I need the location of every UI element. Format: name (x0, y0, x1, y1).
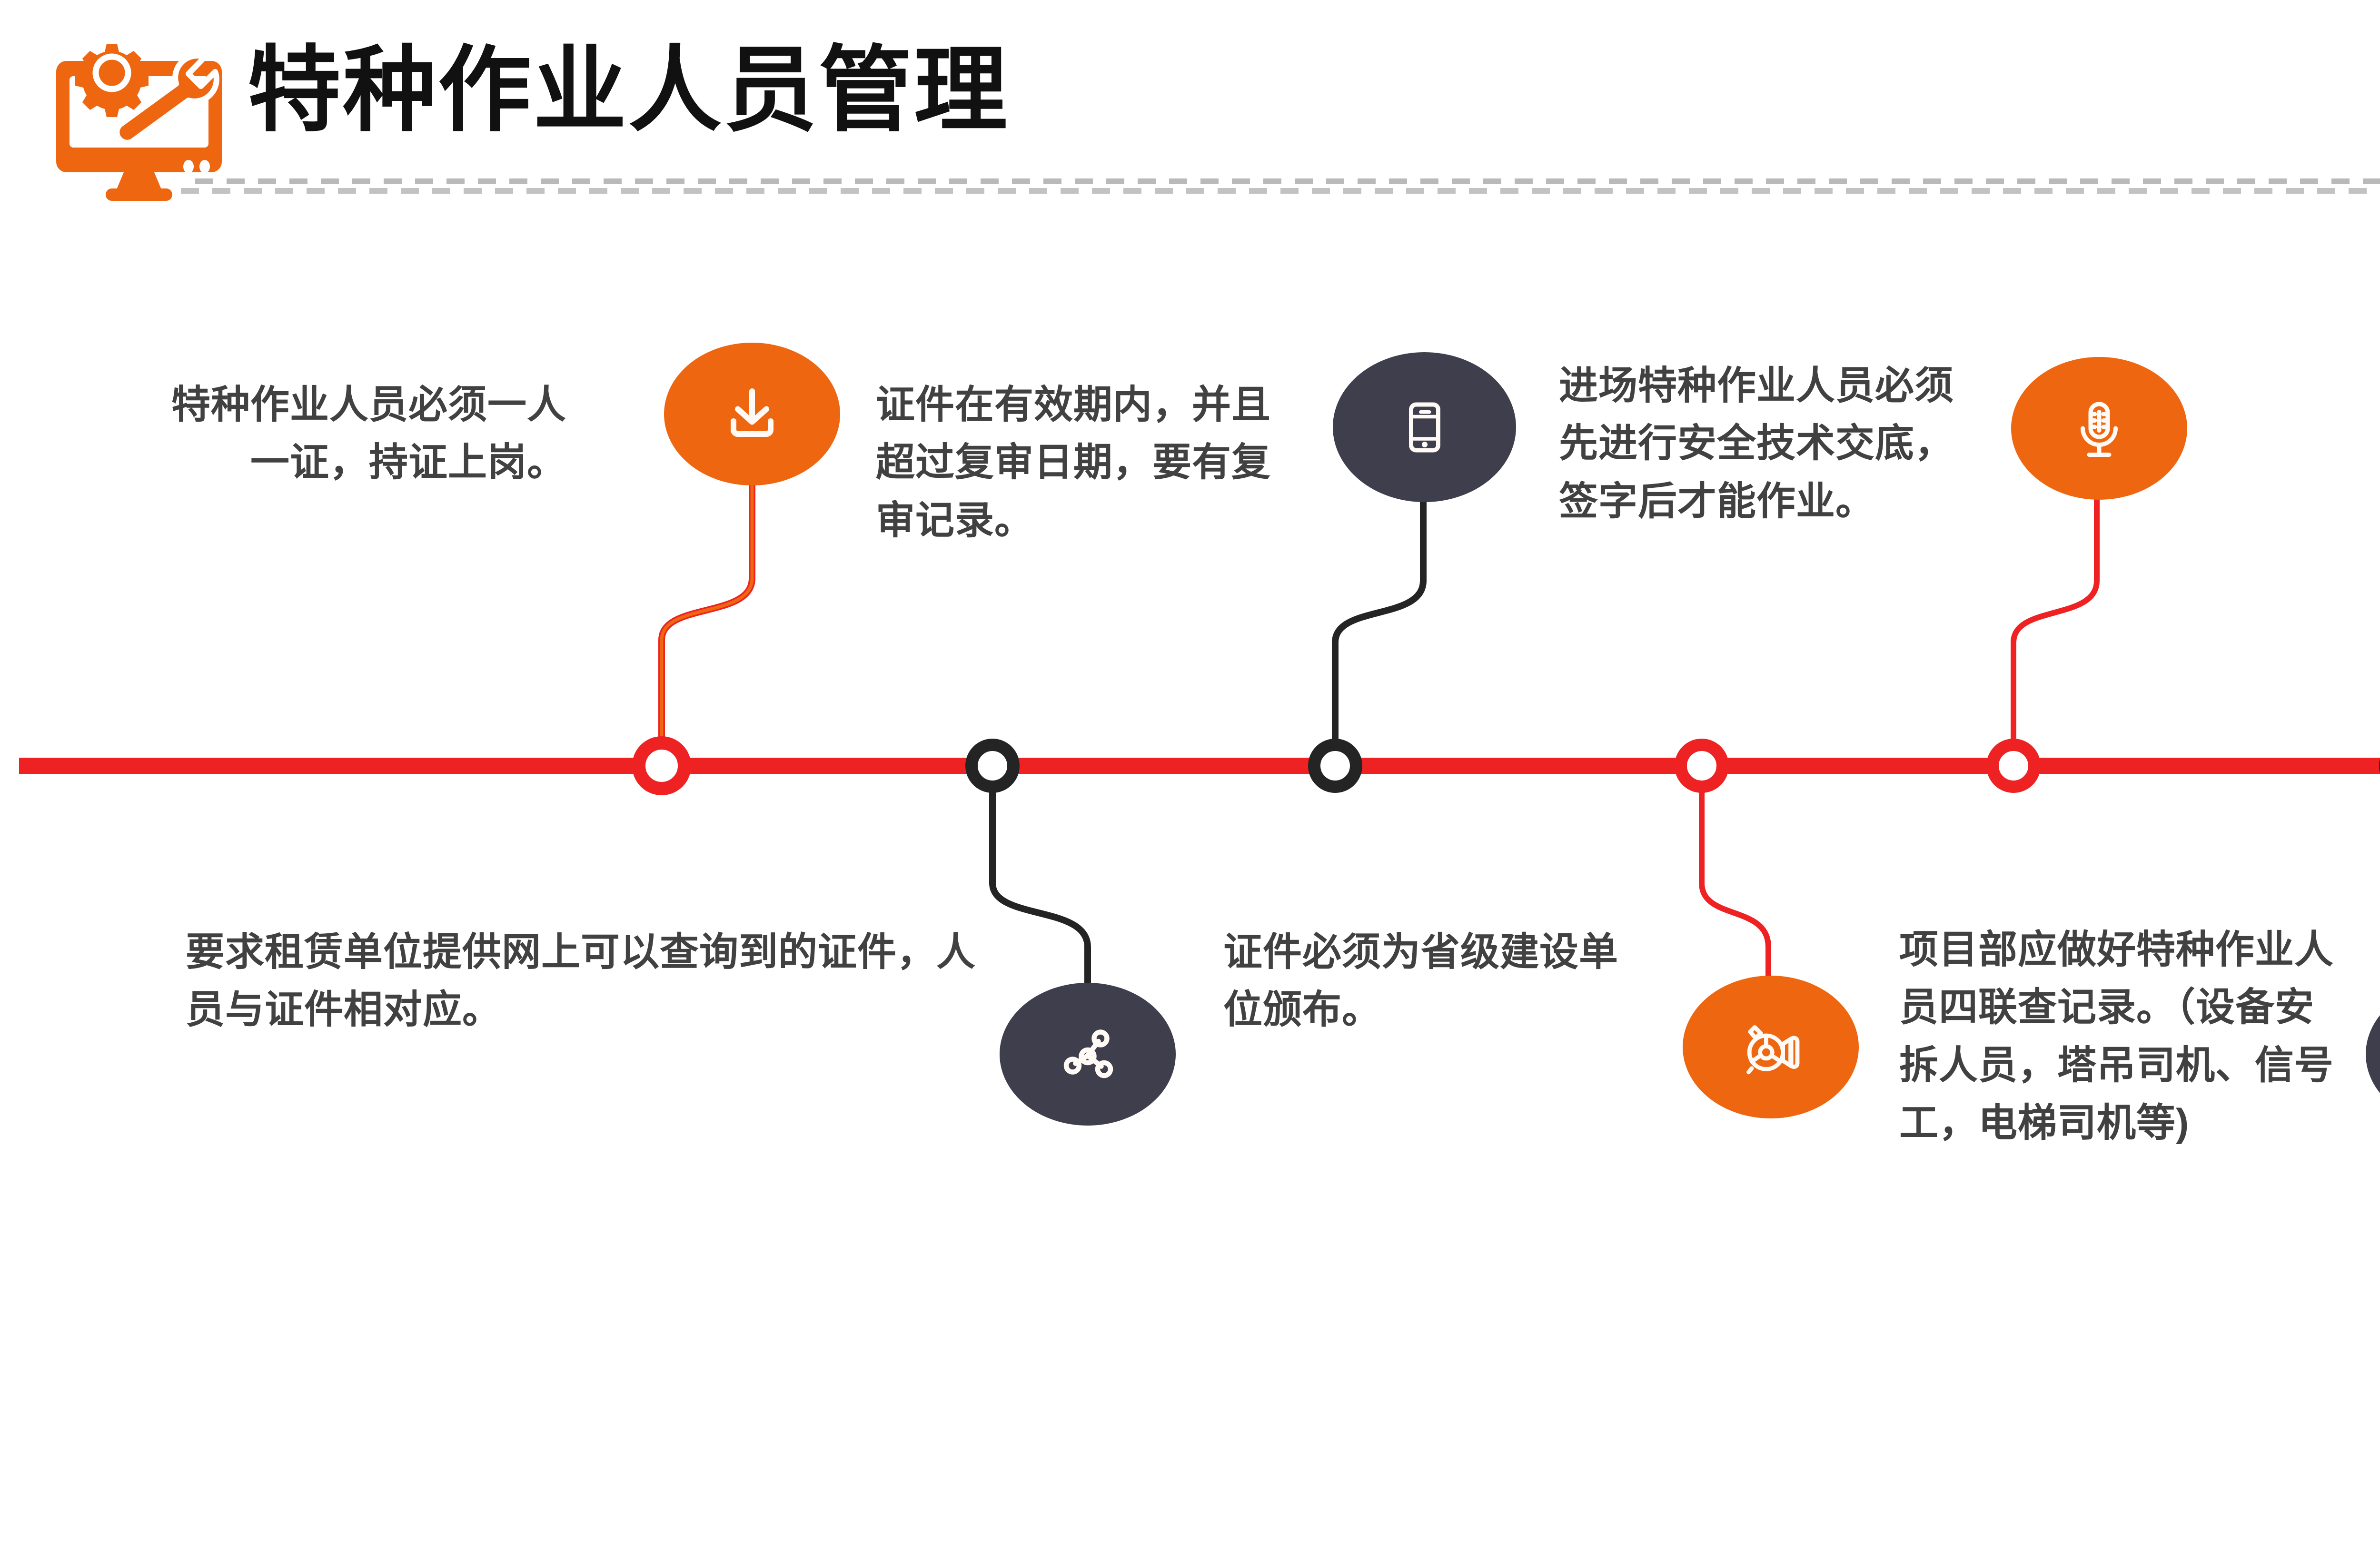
timeline-marker-1 (639, 743, 684, 789)
item-text-4: 证件必须为省级建设单位颁布。 (1223, 923, 1652, 1039)
icon-bubble-download[interactable] (664, 343, 840, 485)
item-text-3: 证件在有效期内，并且超过复审日期，要有复审记录。 (876, 376, 1309, 549)
icon-bubble-microphone[interactable] (2011, 357, 2187, 500)
timeline-marker-4 (1681, 745, 1723, 787)
icon-bubble-projector[interactable] (1683, 976, 1859, 1118)
timeline-marker-2 (972, 745, 1013, 787)
timeline-connectors (0, 0, 2380, 1542)
infographic-page: 特种作业人员管理 (0, 0, 2380, 1542)
mobile-phone-icon (1389, 392, 1460, 463)
download-icon (716, 378, 788, 450)
film-projector-icon (1733, 1009, 1809, 1085)
timeline-marker-5 (1993, 745, 2034, 787)
item-text-2: 要求租赁单位提供网上可以查询到的证件，人员与证件相对应。 (186, 923, 976, 1039)
share-nodes-icon (1052, 1018, 1123, 1090)
icon-bubble-mobile[interactable] (1333, 352, 1516, 502)
icon-bubble-share[interactable] (1000, 983, 1176, 1126)
microphone-icon (2063, 393, 2135, 464)
item-text-5: 进场特种作业人员必须先进行安全技术交底，签字后才能作业。 (1559, 357, 1987, 530)
timeline-marker-3 (1314, 745, 1356, 787)
item-text-1: 特种作业人员必须一人一证，持证上岗。 (143, 376, 566, 492)
item-text-6: 项目部应做好特种作业人员四联查记录。（设备安拆人员，塔吊司机、信号工，电梯司机等… (1899, 921, 2337, 1152)
